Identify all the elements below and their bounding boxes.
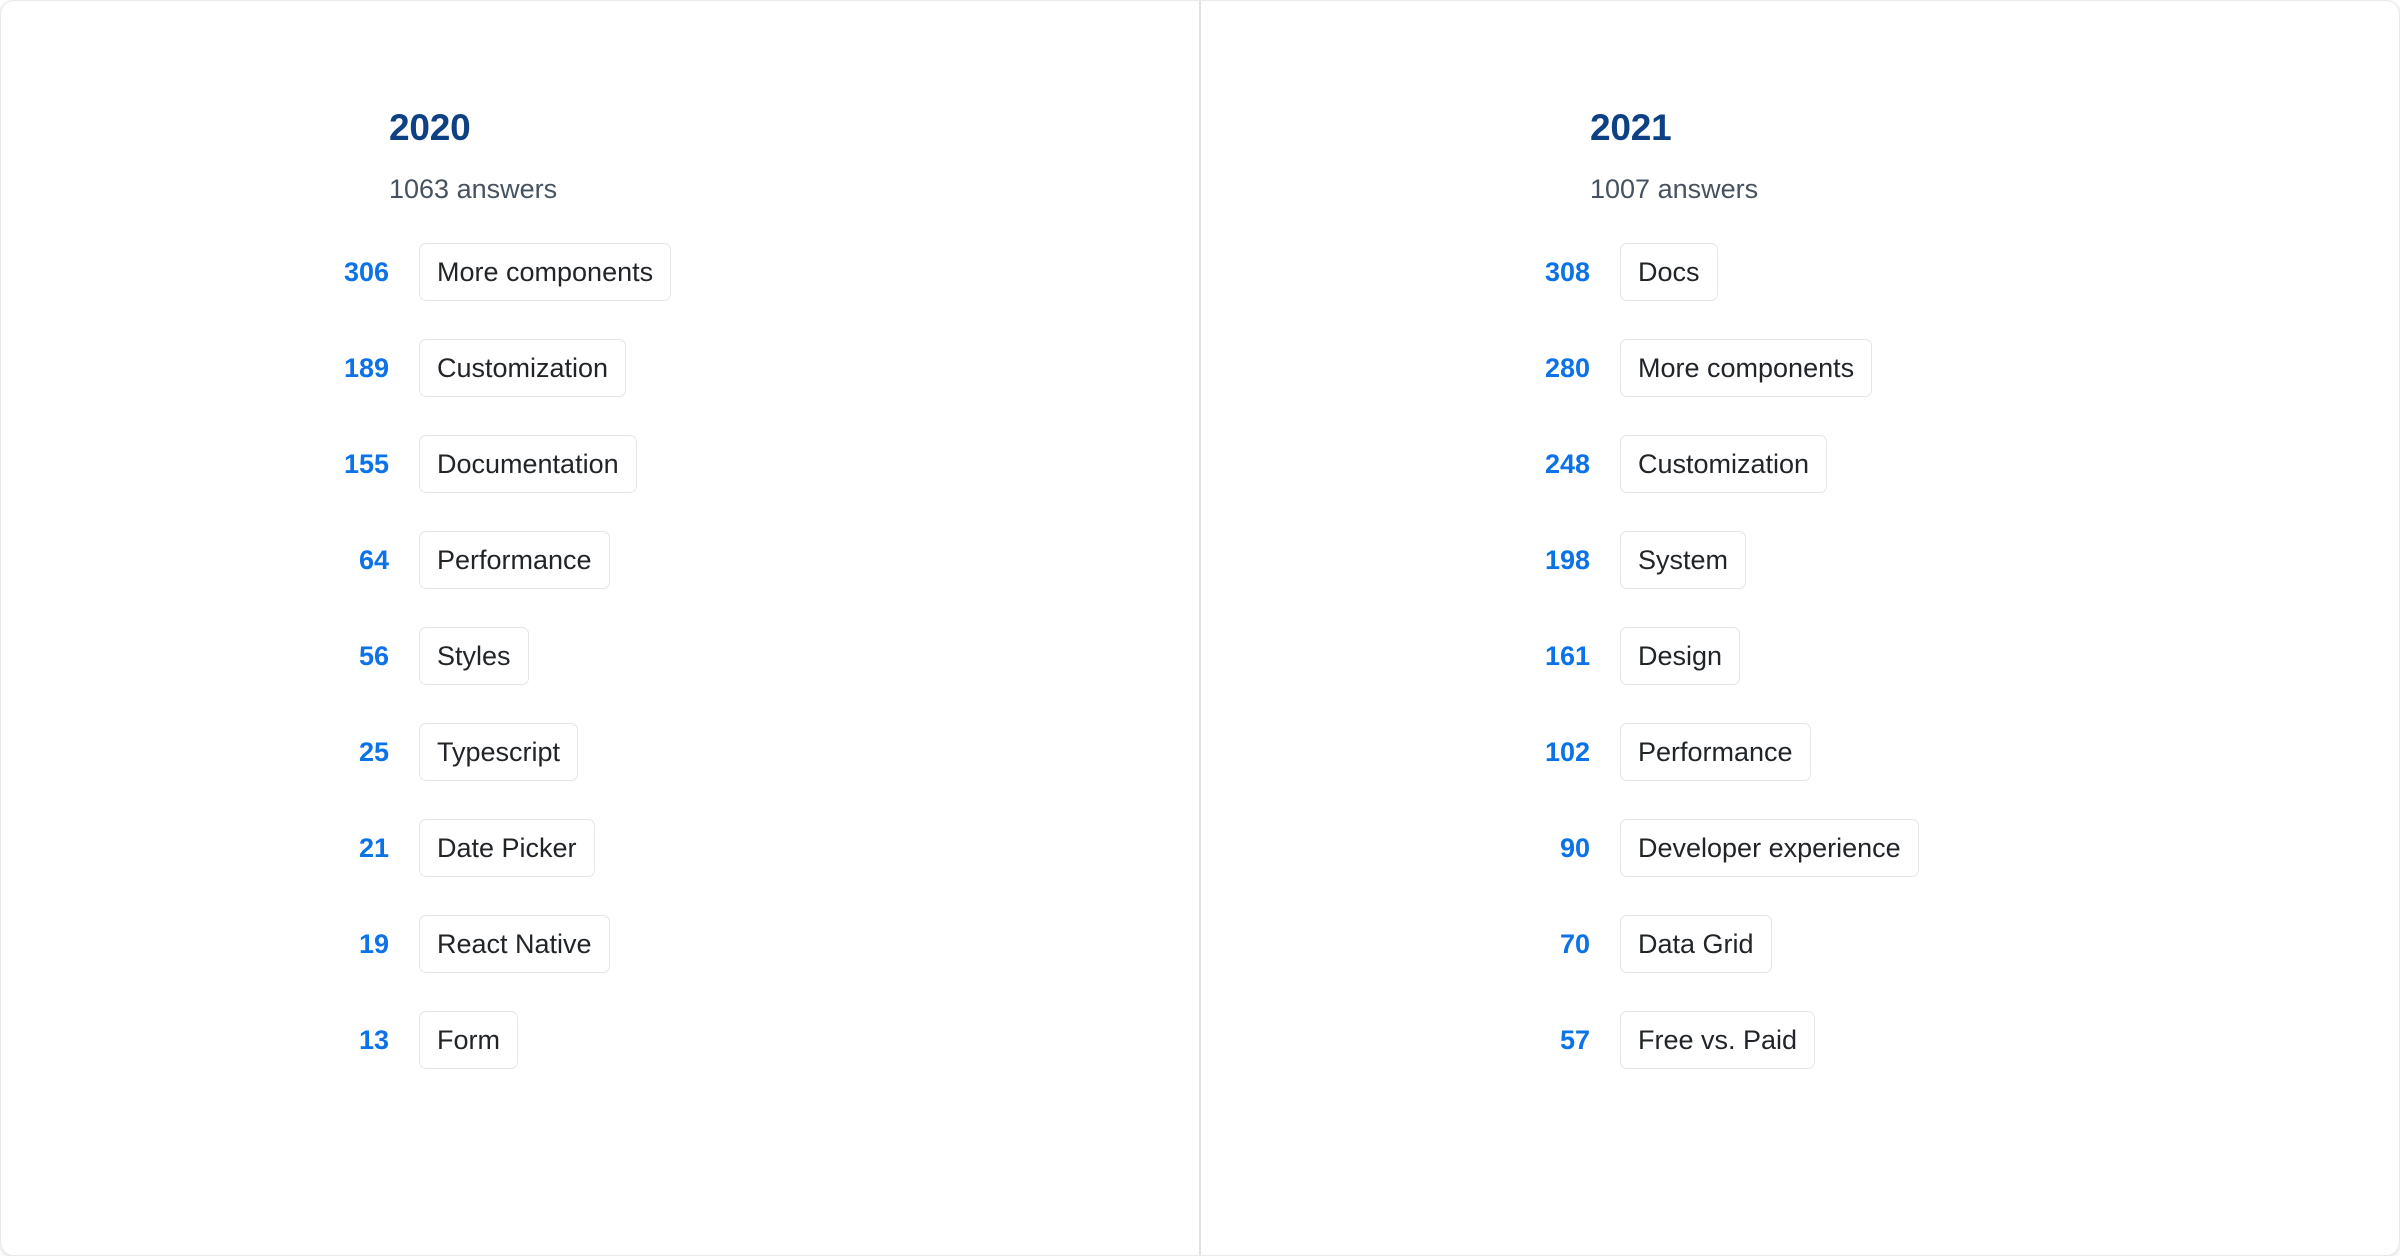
answer-label-pill[interactable]: Performance	[1620, 723, 1811, 781]
answer-count: 248	[1530, 451, 1590, 478]
list-item[interactable]: 102 Performance	[1590, 723, 2400, 781]
answer-count: 280	[1530, 355, 1590, 382]
answer-count: 189	[329, 355, 389, 382]
list-item[interactable]: 248 Customization	[1590, 435, 2400, 493]
answer-label-pill[interactable]: Customization	[1620, 435, 1827, 493]
answer-label-pill[interactable]: More components	[1620, 339, 1872, 397]
answer-label-pill[interactable]: Developer experience	[1620, 819, 1919, 877]
list-item[interactable]: 308 Docs	[1590, 243, 2400, 301]
answer-count: 64	[329, 547, 389, 574]
list-item[interactable]: 64 Performance	[389, 531, 1199, 589]
answer-label-pill[interactable]: Documentation	[419, 435, 637, 493]
column-subtitle-2021: 1007 answers	[1590, 176, 2400, 203]
list-item[interactable]: 161 Design	[1590, 627, 2400, 685]
column-title-2021: 2021	[1590, 109, 2400, 146]
list-item[interactable]: 306 More components	[389, 243, 1199, 301]
answer-count: 306	[329, 259, 389, 286]
answer-label-pill[interactable]: Typescript	[419, 723, 578, 781]
list-item[interactable]: 155 Documentation	[389, 435, 1199, 493]
answer-count: 19	[329, 931, 389, 958]
list-item[interactable]: 19 React Native	[389, 915, 1199, 973]
answer-list-2020: 306 More components 189 Customization 15…	[389, 243, 1199, 1069]
answer-count: 155	[329, 451, 389, 478]
list-item[interactable]: 21 Date Picker	[389, 819, 1199, 877]
answer-label-pill[interactable]: Data Grid	[1620, 915, 1772, 973]
list-item[interactable]: 13 Form	[389, 1011, 1199, 1069]
answer-count: 90	[1530, 835, 1590, 862]
list-item[interactable]: 189 Customization	[389, 339, 1199, 397]
answer-label-pill[interactable]: Styles	[419, 627, 529, 685]
answer-label-pill[interactable]: React Native	[419, 915, 610, 973]
answer-count: 25	[329, 739, 389, 766]
list-item[interactable]: 198 System	[1590, 531, 2400, 589]
survey-results-card: 2020 1063 answers 306 More components 18…	[0, 0, 2400, 1256]
answer-count: 70	[1530, 931, 1590, 958]
answer-count: 21	[329, 835, 389, 862]
list-item[interactable]: 90 Developer experience	[1590, 819, 2400, 877]
answer-label-pill[interactable]: Customization	[419, 339, 626, 397]
answer-label-pill[interactable]: Date Picker	[419, 819, 595, 877]
list-item[interactable]: 70 Data Grid	[1590, 915, 2400, 973]
answer-count: 198	[1530, 547, 1590, 574]
answer-count: 13	[329, 1027, 389, 1054]
answer-count: 57	[1530, 1027, 1590, 1054]
answer-label-pill[interactable]: Design	[1620, 627, 1740, 685]
answer-label-pill[interactable]: Form	[419, 1011, 518, 1069]
answer-count: 102	[1530, 739, 1590, 766]
answer-count: 56	[329, 643, 389, 670]
column-subtitle-2020: 1063 answers	[389, 176, 1199, 203]
answer-label-pill[interactable]: More components	[419, 243, 671, 301]
list-item[interactable]: 56 Styles	[389, 627, 1199, 685]
answer-count: 161	[1530, 643, 1590, 670]
answer-label-pill[interactable]: Performance	[419, 531, 610, 589]
answer-label-pill[interactable]: System	[1620, 531, 1746, 589]
list-item[interactable]: 280 More components	[1590, 339, 2400, 397]
answer-count: 308	[1530, 259, 1590, 286]
column-title-2020: 2020	[389, 109, 1199, 146]
answer-label-pill[interactable]: Free vs. Paid	[1620, 1011, 1815, 1069]
answer-list-2021: 308 Docs 280 More components 248 Customi…	[1590, 243, 2400, 1069]
list-item[interactable]: 25 Typescript	[389, 723, 1199, 781]
list-item[interactable]: 57 Free vs. Paid	[1590, 1011, 2400, 1069]
year-column-2021: 2021 1007 answers 308 Docs 280 More comp…	[1201, 1, 2400, 1255]
year-column-2020: 2020 1063 answers 306 More components 18…	[1, 1, 1201, 1255]
answer-label-pill[interactable]: Docs	[1620, 243, 1718, 301]
